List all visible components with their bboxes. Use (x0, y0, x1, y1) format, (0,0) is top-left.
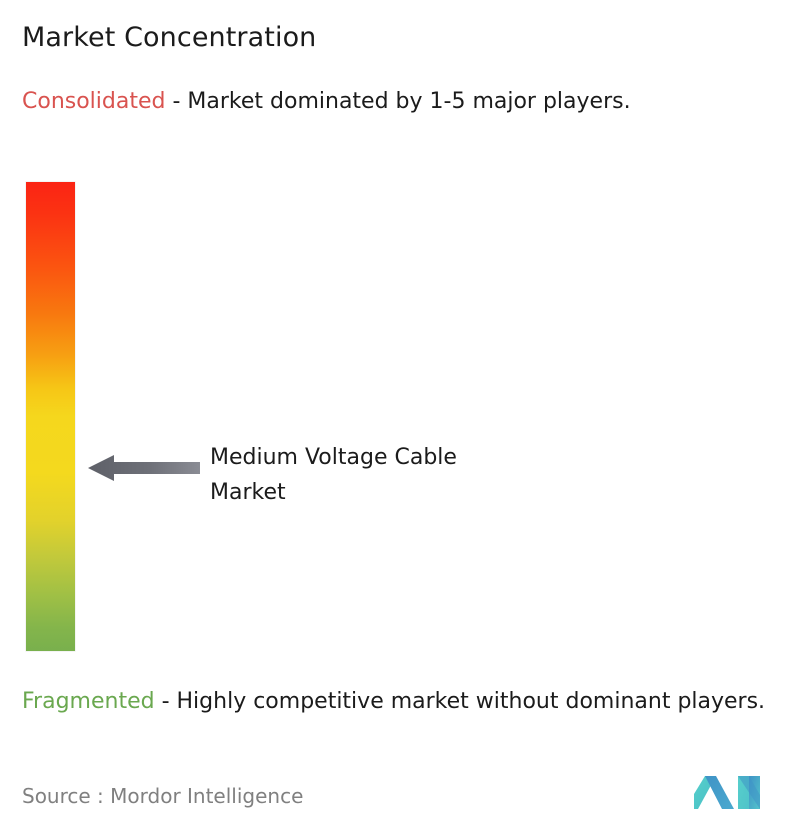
marker-label-line-1: Medium Voltage Cable (210, 440, 640, 475)
marker-label-line-2: Market (210, 475, 640, 510)
legend-fragmented-description: - Highly competitive market without domi… (155, 689, 765, 714)
marker-label: Medium Voltage Cable Market (210, 440, 640, 510)
page-title: Market Concentration (22, 20, 316, 56)
market-concentration-gradient-bar (26, 182, 75, 651)
source-note: Source : Mordor Intelligence (22, 782, 303, 810)
legend-fragmented: Fragmented - Highly competitive market w… (22, 686, 782, 718)
legend-consolidated-description: - Market dominated by 1-5 major players. (165, 89, 630, 114)
left-arrow-icon (88, 452, 200, 484)
chart-canvas: Market Concentration Consolidated - Mark… (0, 0, 796, 834)
mordor-intelligence-logo (694, 770, 764, 812)
legend-consolidated-keyword: Consolidated (22, 89, 165, 114)
legend-consolidated: Consolidated - Market dominated by 1-5 m… (22, 86, 767, 118)
legend-fragmented-keyword: Fragmented (22, 689, 155, 714)
